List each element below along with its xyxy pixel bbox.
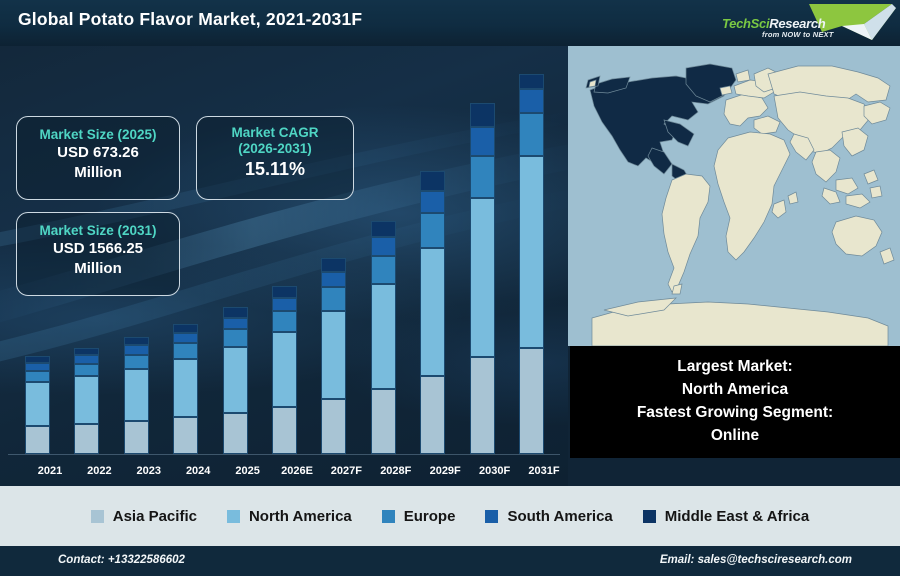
bar-segment-asia-pacific[interactable]: [25, 426, 50, 454]
bar-segment-asia-pacific[interactable]: [321, 399, 346, 454]
x-axis-label-2021: 2021: [22, 465, 78, 477]
fastest-segment-value: Online: [711, 425, 759, 448]
legend-swatch-icon: [91, 510, 104, 523]
legend-item-middle-east-africa[interactable]: Middle East & Africa: [643, 508, 809, 525]
logo-name-part1: TechSci: [722, 16, 769, 31]
bar-segment-asia-pacific[interactable]: [173, 417, 198, 454]
bar-segment-asia-pacific[interactable]: [420, 376, 445, 454]
legend-label: Europe: [404, 508, 456, 525]
bar-segment-middle-east-africa[interactable]: [420, 171, 445, 191]
bar-segment-europe[interactable]: [173, 343, 198, 359]
x-axis-line: [8, 454, 560, 455]
x-axis-label-2022: 2022: [71, 465, 127, 477]
bar-segment-asia-pacific[interactable]: [371, 389, 396, 454]
bar-segment-north-america[interactable]: [470, 198, 495, 357]
bar-2029F[interactable]: [420, 171, 445, 454]
bar-segment-south-america[interactable]: [321, 272, 346, 288]
bar-2027F[interactable]: [321, 258, 346, 454]
bar-segment-north-america[interactable]: [223, 347, 248, 413]
bar-segment-europe[interactable]: [519, 113, 544, 157]
fastest-segment-label: Fastest Growing Segment:: [637, 402, 833, 425]
legend-item-asia-pacific[interactable]: Asia Pacific: [91, 508, 197, 525]
bar-segment-north-america[interactable]: [74, 376, 99, 424]
legend-label: Asia Pacific: [113, 508, 197, 525]
bar-segment-north-america[interactable]: [371, 284, 396, 389]
x-axis-label-2027F: 2027F: [318, 465, 374, 477]
bar-segment-south-america[interactable]: [25, 363, 50, 371]
bar-segment-north-america[interactable]: [321, 311, 346, 399]
legend-swatch-icon: [227, 510, 240, 523]
bar-2021[interactable]: [25, 356, 50, 454]
bar-segment-europe[interactable]: [272, 311, 297, 331]
bar-segment-asia-pacific[interactable]: [124, 421, 149, 454]
bar-segment-europe[interactable]: [74, 364, 99, 377]
bar-2030F[interactable]: [470, 103, 495, 454]
legend-swatch-icon: [382, 510, 395, 523]
chart-legend: Asia PacificNorth AmericaEuropeSouth Ame…: [0, 486, 900, 546]
largest-market-label: Largest Market:: [677, 356, 792, 379]
bar-segment-middle-east-africa[interactable]: [371, 221, 396, 237]
bar-segment-middle-east-africa[interactable]: [272, 286, 297, 298]
world-map-icon: [568, 46, 900, 346]
footer-contact: Contact: +13322586602: [58, 554, 185, 566]
chart-panel: Market Size (2025) USD 673.26 Million Ma…: [0, 46, 568, 486]
x-axis-label-2031F: 2031F: [516, 465, 568, 477]
bar-segment-south-america[interactable]: [272, 298, 297, 311]
bar-segment-south-america[interactable]: [519, 89, 544, 113]
bar-segment-europe[interactable]: [321, 287, 346, 311]
bar-segment-asia-pacific[interactable]: [74, 424, 99, 454]
bar-segment-europe[interactable]: [25, 371, 50, 383]
infographic-root: Global Potato Flavor Market, 2021-2031F …: [0, 0, 900, 576]
bar-segment-north-america[interactable]: [124, 369, 149, 421]
largest-market-value: North America: [682, 379, 788, 402]
x-axis-label-2028F: 2028F: [368, 465, 424, 477]
stacked-bar-chart: 202120222023202420252026E2027F2028F2029F…: [0, 46, 568, 486]
bar-2028F[interactable]: [371, 221, 396, 454]
bar-segment-south-america[interactable]: [173, 333, 198, 343]
bar-segment-south-america[interactable]: [223, 318, 248, 330]
bar-segment-south-america[interactable]: [371, 237, 396, 256]
x-axis-label-2030F: 2030F: [467, 465, 523, 477]
bar-segment-north-america[interactable]: [519, 156, 544, 348]
bar-segment-south-america[interactable]: [74, 355, 99, 363]
x-axis-label-2024: 2024: [170, 465, 226, 477]
bar-segment-north-america[interactable]: [25, 382, 50, 426]
logo-wordmark: TechSciResearch: [722, 16, 825, 31]
bar-segment-asia-pacific[interactable]: [272, 407, 297, 454]
footer-email: Email: sales@techsciresearch.com: [660, 554, 852, 566]
bar-segment-south-america[interactable]: [420, 191, 445, 214]
x-axis-label-2023: 2023: [121, 465, 177, 477]
bar-segment-south-america[interactable]: [124, 345, 149, 354]
bar-2024[interactable]: [173, 324, 198, 454]
bar-segment-middle-east-africa[interactable]: [470, 103, 495, 127]
bar-2022[interactable]: [74, 348, 99, 454]
highlight-info-box: Largest Market: North America Fastest Gr…: [570, 346, 900, 458]
bar-segment-middle-east-africa[interactable]: [223, 307, 248, 317]
footer-bar: Contact: +13322586602 Email: sales@techs…: [0, 546, 900, 576]
bar-segment-middle-east-africa[interactable]: [519, 74, 544, 89]
bar-segment-europe[interactable]: [124, 355, 149, 369]
legend-swatch-icon: [485, 510, 498, 523]
bar-2025[interactable]: [223, 307, 248, 454]
legend-label: Middle East & Africa: [665, 508, 809, 525]
logo-tagline: from NOW to NEXT: [762, 30, 834, 39]
bar-segment-middle-east-africa[interactable]: [74, 348, 99, 355]
legend-label: North America: [249, 508, 352, 525]
legend-swatch-icon: [643, 510, 656, 523]
x-axis-label-2029F: 2029F: [417, 465, 473, 477]
bar-2031F[interactable]: [519, 74, 544, 454]
bar-segment-europe[interactable]: [420, 213, 445, 247]
page-title: Global Potato Flavor Market, 2021-2031F: [18, 9, 362, 30]
world-map-panel: [568, 46, 900, 346]
x-axis-label-2025: 2025: [220, 465, 276, 477]
techsci-research-logo: TechSciResearch from NOW to NEXT: [714, 2, 896, 44]
bar-segment-north-america[interactable]: [173, 359, 198, 417]
bar-segment-middle-east-africa[interactable]: [173, 324, 198, 333]
logo-name-part2: Research: [769, 16, 825, 31]
legend-label: South America: [507, 508, 612, 525]
x-axis-label-2026E: 2026E: [269, 465, 325, 477]
bar-segment-north-america[interactable]: [272, 332, 297, 407]
bar-2026E[interactable]: [272, 286, 297, 454]
bar-segment-middle-east-africa[interactable]: [124, 337, 149, 345]
legend-item-north-america[interactable]: North America: [227, 508, 352, 525]
bar-segment-asia-pacific[interactable]: [519, 348, 544, 454]
bar-segment-asia-pacific[interactable]: [223, 413, 248, 454]
bar-segment-middle-east-africa[interactable]: [25, 356, 50, 363]
bar-segment-europe[interactable]: [470, 156, 495, 199]
legend-item-south-america[interactable]: South America: [485, 508, 612, 525]
bar-segment-europe[interactable]: [371, 256, 396, 284]
bar-segment-europe[interactable]: [223, 329, 248, 347]
bar-segment-asia-pacific[interactable]: [470, 357, 495, 454]
bar-segment-middle-east-africa[interactable]: [321, 258, 346, 272]
legend-item-europe[interactable]: Europe: [382, 508, 456, 525]
bar-segment-north-america[interactable]: [420, 248, 445, 376]
header-bar: Global Potato Flavor Market, 2021-2031F …: [0, 0, 900, 46]
bar-2023[interactable]: [124, 337, 149, 454]
bar-segment-south-america[interactable]: [470, 127, 495, 155]
